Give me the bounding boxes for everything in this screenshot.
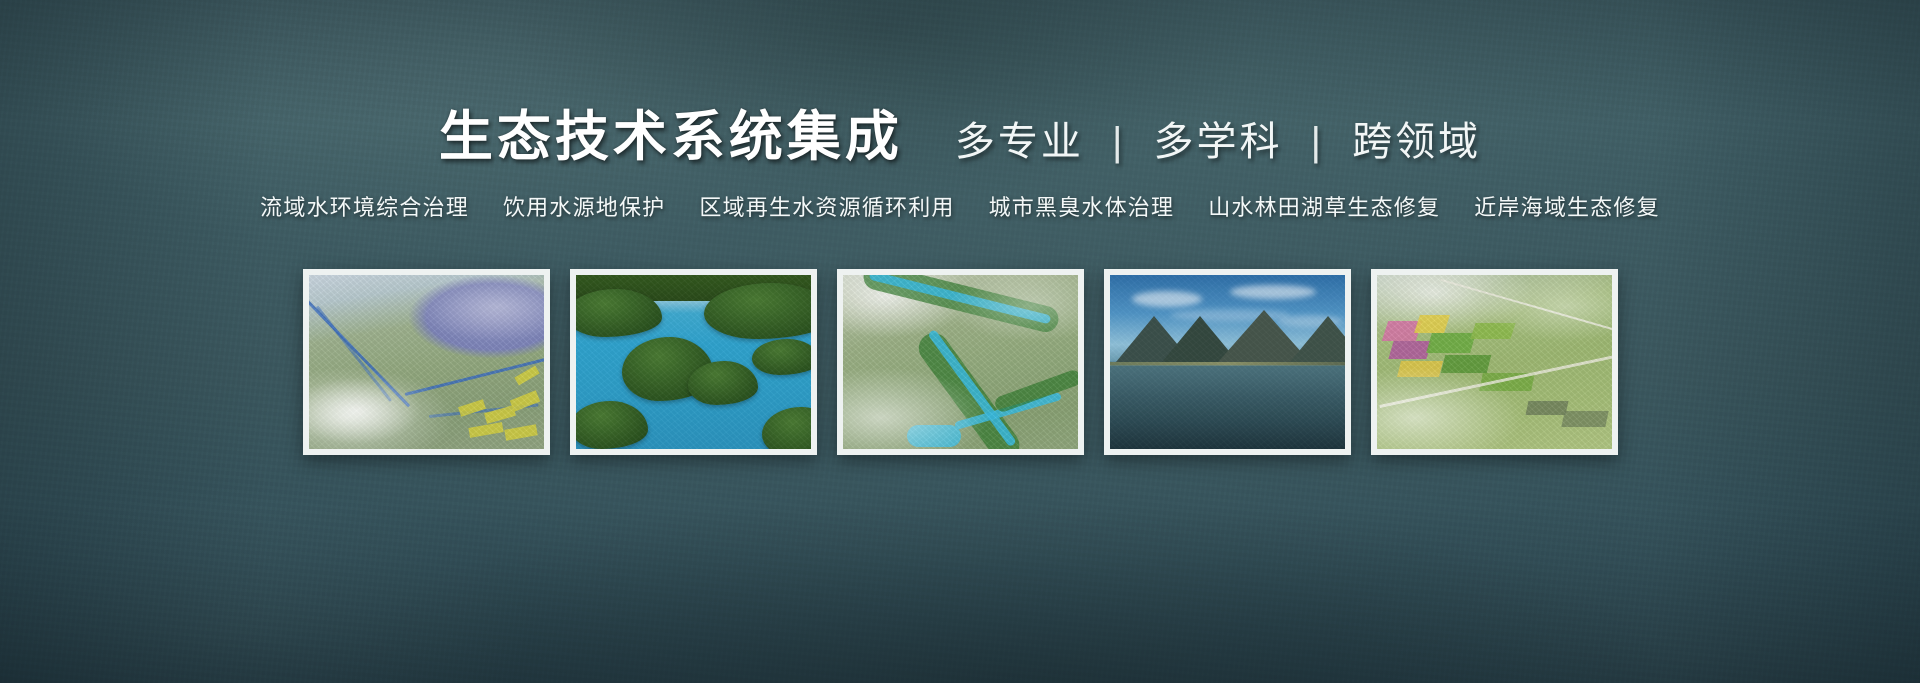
thumbnail-gallery bbox=[0, 269, 1920, 455]
service-tag-mountain-river-restoration[interactable]: 山水林田湖草生态修复 bbox=[1208, 190, 1440, 222]
thumbnail-image-1 bbox=[309, 275, 544, 449]
thumbnail-image-5 bbox=[1377, 275, 1612, 449]
thumb-5-mist bbox=[1377, 275, 1612, 449]
thumb-1-mist bbox=[309, 275, 544, 449]
thumb-2-texture bbox=[576, 275, 811, 449]
service-tag-row: 流域水环境综合治理 饮用水源地保护 区域再生水资源循环利用 城市黑臭水体治理 山… bbox=[0, 190, 1920, 222]
thumbnail-turquoise-lake-islands[interactable] bbox=[570, 269, 817, 455]
service-tag-watershed[interactable]: 流域水环境综合治理 bbox=[260, 190, 469, 222]
thumb-3-mist bbox=[843, 275, 1078, 449]
banner-subtitle: 多专业 | 多学科 | 跨领域 bbox=[955, 120, 1481, 164]
headline-row: 生态技术系统集成 多专业 | 多学科 | 跨领域 bbox=[0, 108, 1920, 167]
thumbnail-mountain-lake-reflection[interactable] bbox=[1104, 269, 1351, 455]
service-tag-coastal-restoration[interactable]: 近岸海域生态修复 bbox=[1474, 190, 1660, 222]
banner-content: 生态技术系统集成 多专业 | 多学科 | 跨领域 流域水环境综合治理 饮用水源地… bbox=[0, 0, 1920, 683]
subtitle-separator-2: | bbox=[1311, 120, 1324, 164]
thumbnail-image-3 bbox=[843, 275, 1078, 449]
service-tag-reclaimed-water[interactable]: 区域再生水资源循环利用 bbox=[699, 190, 954, 222]
thumb-4-texture bbox=[1110, 275, 1345, 449]
thumbnail-aerial-river-basin-plan[interactable] bbox=[303, 269, 550, 455]
subtitle-part-1: 多专业 bbox=[955, 120, 1084, 164]
service-tag-drinking-water[interactable]: 饮用水源地保护 bbox=[503, 190, 665, 222]
hero-banner: 生态技术系统集成 多专业 | 多学科 | 跨领域 流域水环境综合治理 饮用水源地… bbox=[0, 0, 1920, 683]
service-tag-black-odorous-water[interactable]: 城市黑臭水体治理 bbox=[989, 190, 1175, 222]
subtitle-part-3: 跨领域 bbox=[1352, 120, 1481, 164]
thumbnail-patchwork-farmland[interactable] bbox=[1371, 269, 1618, 455]
subtitle-separator-1: | bbox=[1112, 120, 1125, 164]
thumbnail-image-4 bbox=[1110, 275, 1345, 449]
thumbnail-image-2 bbox=[576, 275, 811, 449]
thumbnail-wetland-greenway-corridor[interactable] bbox=[837, 269, 1084, 455]
banner-title: 生态技术系统集成 bbox=[439, 108, 903, 167]
subtitle-part-2: 多学科 bbox=[1154, 120, 1283, 164]
